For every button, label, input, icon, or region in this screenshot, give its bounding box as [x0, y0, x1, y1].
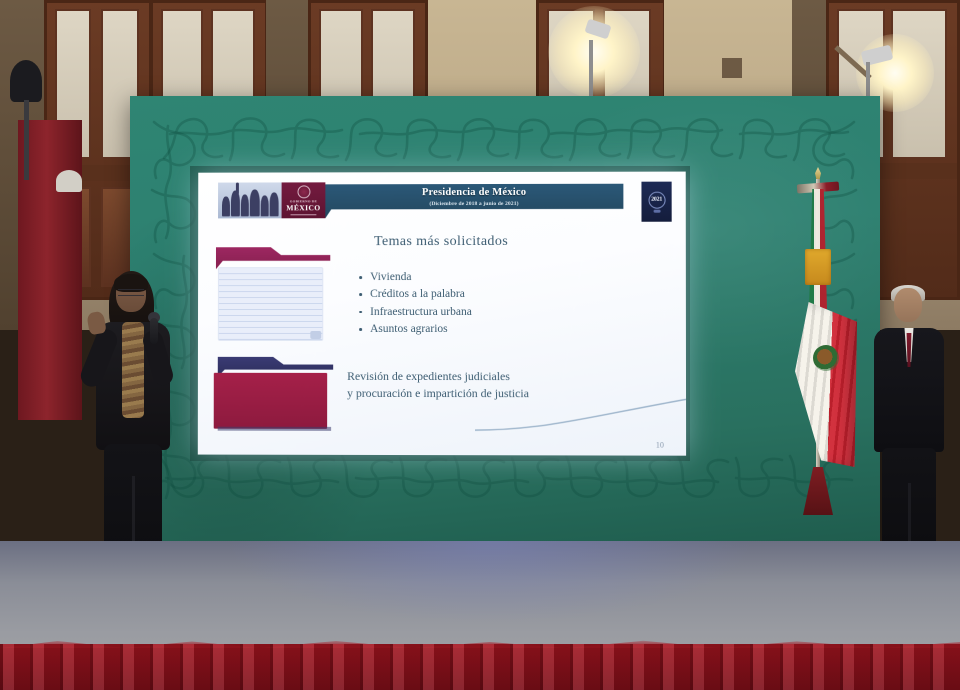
presenter-left-hand	[86, 311, 107, 336]
header-bar: Presidencia de México (Diciembre de 2018…	[325, 184, 623, 219]
screenshot-root: Presidencia de México (Diciembre de 2018…	[0, 0, 960, 690]
glasses-icon	[118, 289, 144, 296]
slide-page-number: 10	[656, 441, 664, 450]
flag-gold-band	[805, 249, 831, 285]
light-head	[10, 60, 42, 102]
national-seal-icon	[297, 186, 310, 199]
light-stand	[24, 100, 29, 180]
historical-figures-illustration	[218, 182, 282, 218]
slide-header: Presidencia de México (Diciembre de 2018…	[218, 182, 672, 225]
list-item: Infraestructura urbana	[357, 304, 472, 321]
projected-slide: Presidencia de México (Diciembre de 2018…	[198, 172, 686, 456]
gobierno-de-mexico-logo: GOBIERNO DE MÉXICO	[282, 182, 326, 218]
official-head	[894, 288, 922, 322]
page-corner	[310, 331, 321, 339]
microphone-icon	[150, 318, 158, 344]
folder-body	[214, 373, 327, 429]
flag-folds	[795, 302, 857, 467]
decorative-swoosh	[475, 397, 686, 431]
header-subtitle: (Diciembre de 2018 a junio de 2021)	[325, 201, 623, 208]
flag-base	[803, 467, 833, 515]
closed-folder-icon	[214, 357, 333, 435]
badge-ribbon	[653, 209, 660, 212]
badge-ring-icon: 2021	[648, 191, 665, 208]
header-title: Presidencia de México	[325, 187, 623, 199]
presenter-scarf	[122, 322, 144, 418]
flag-body	[795, 302, 857, 467]
flag-eagle-emblem-icon	[813, 345, 839, 371]
maze-pattern-top	[160, 112, 850, 164]
wall-plate	[722, 58, 742, 78]
list-item: Asuntos agrarios	[357, 321, 472, 338]
logo-rule	[291, 214, 317, 215]
floor-light-pool	[230, 541, 750, 621]
bullet-list: Vivienda Créditos a la palabra Infraestr…	[357, 269, 472, 339]
mexican-flag	[789, 167, 851, 497]
skirt-pleats	[0, 644, 960, 690]
badge-year: 2021	[651, 197, 662, 203]
light-head-2	[56, 170, 82, 192]
commemorative-badge: 2021	[641, 182, 671, 222]
second-block-line-1: Revisión de expedientes judiciales	[347, 368, 529, 385]
list-item: Vivienda	[357, 269, 472, 287]
open-folder-icon	[216, 247, 330, 342]
folder-document-page	[218, 267, 323, 341]
folder-shadow	[218, 427, 331, 431]
folder-tab	[216, 247, 330, 269]
list-item: Créditos a la palabra	[357, 286, 472, 303]
logo-mexico-text: MÉXICO	[286, 204, 320, 212]
stage-skirt	[0, 644, 960, 690]
